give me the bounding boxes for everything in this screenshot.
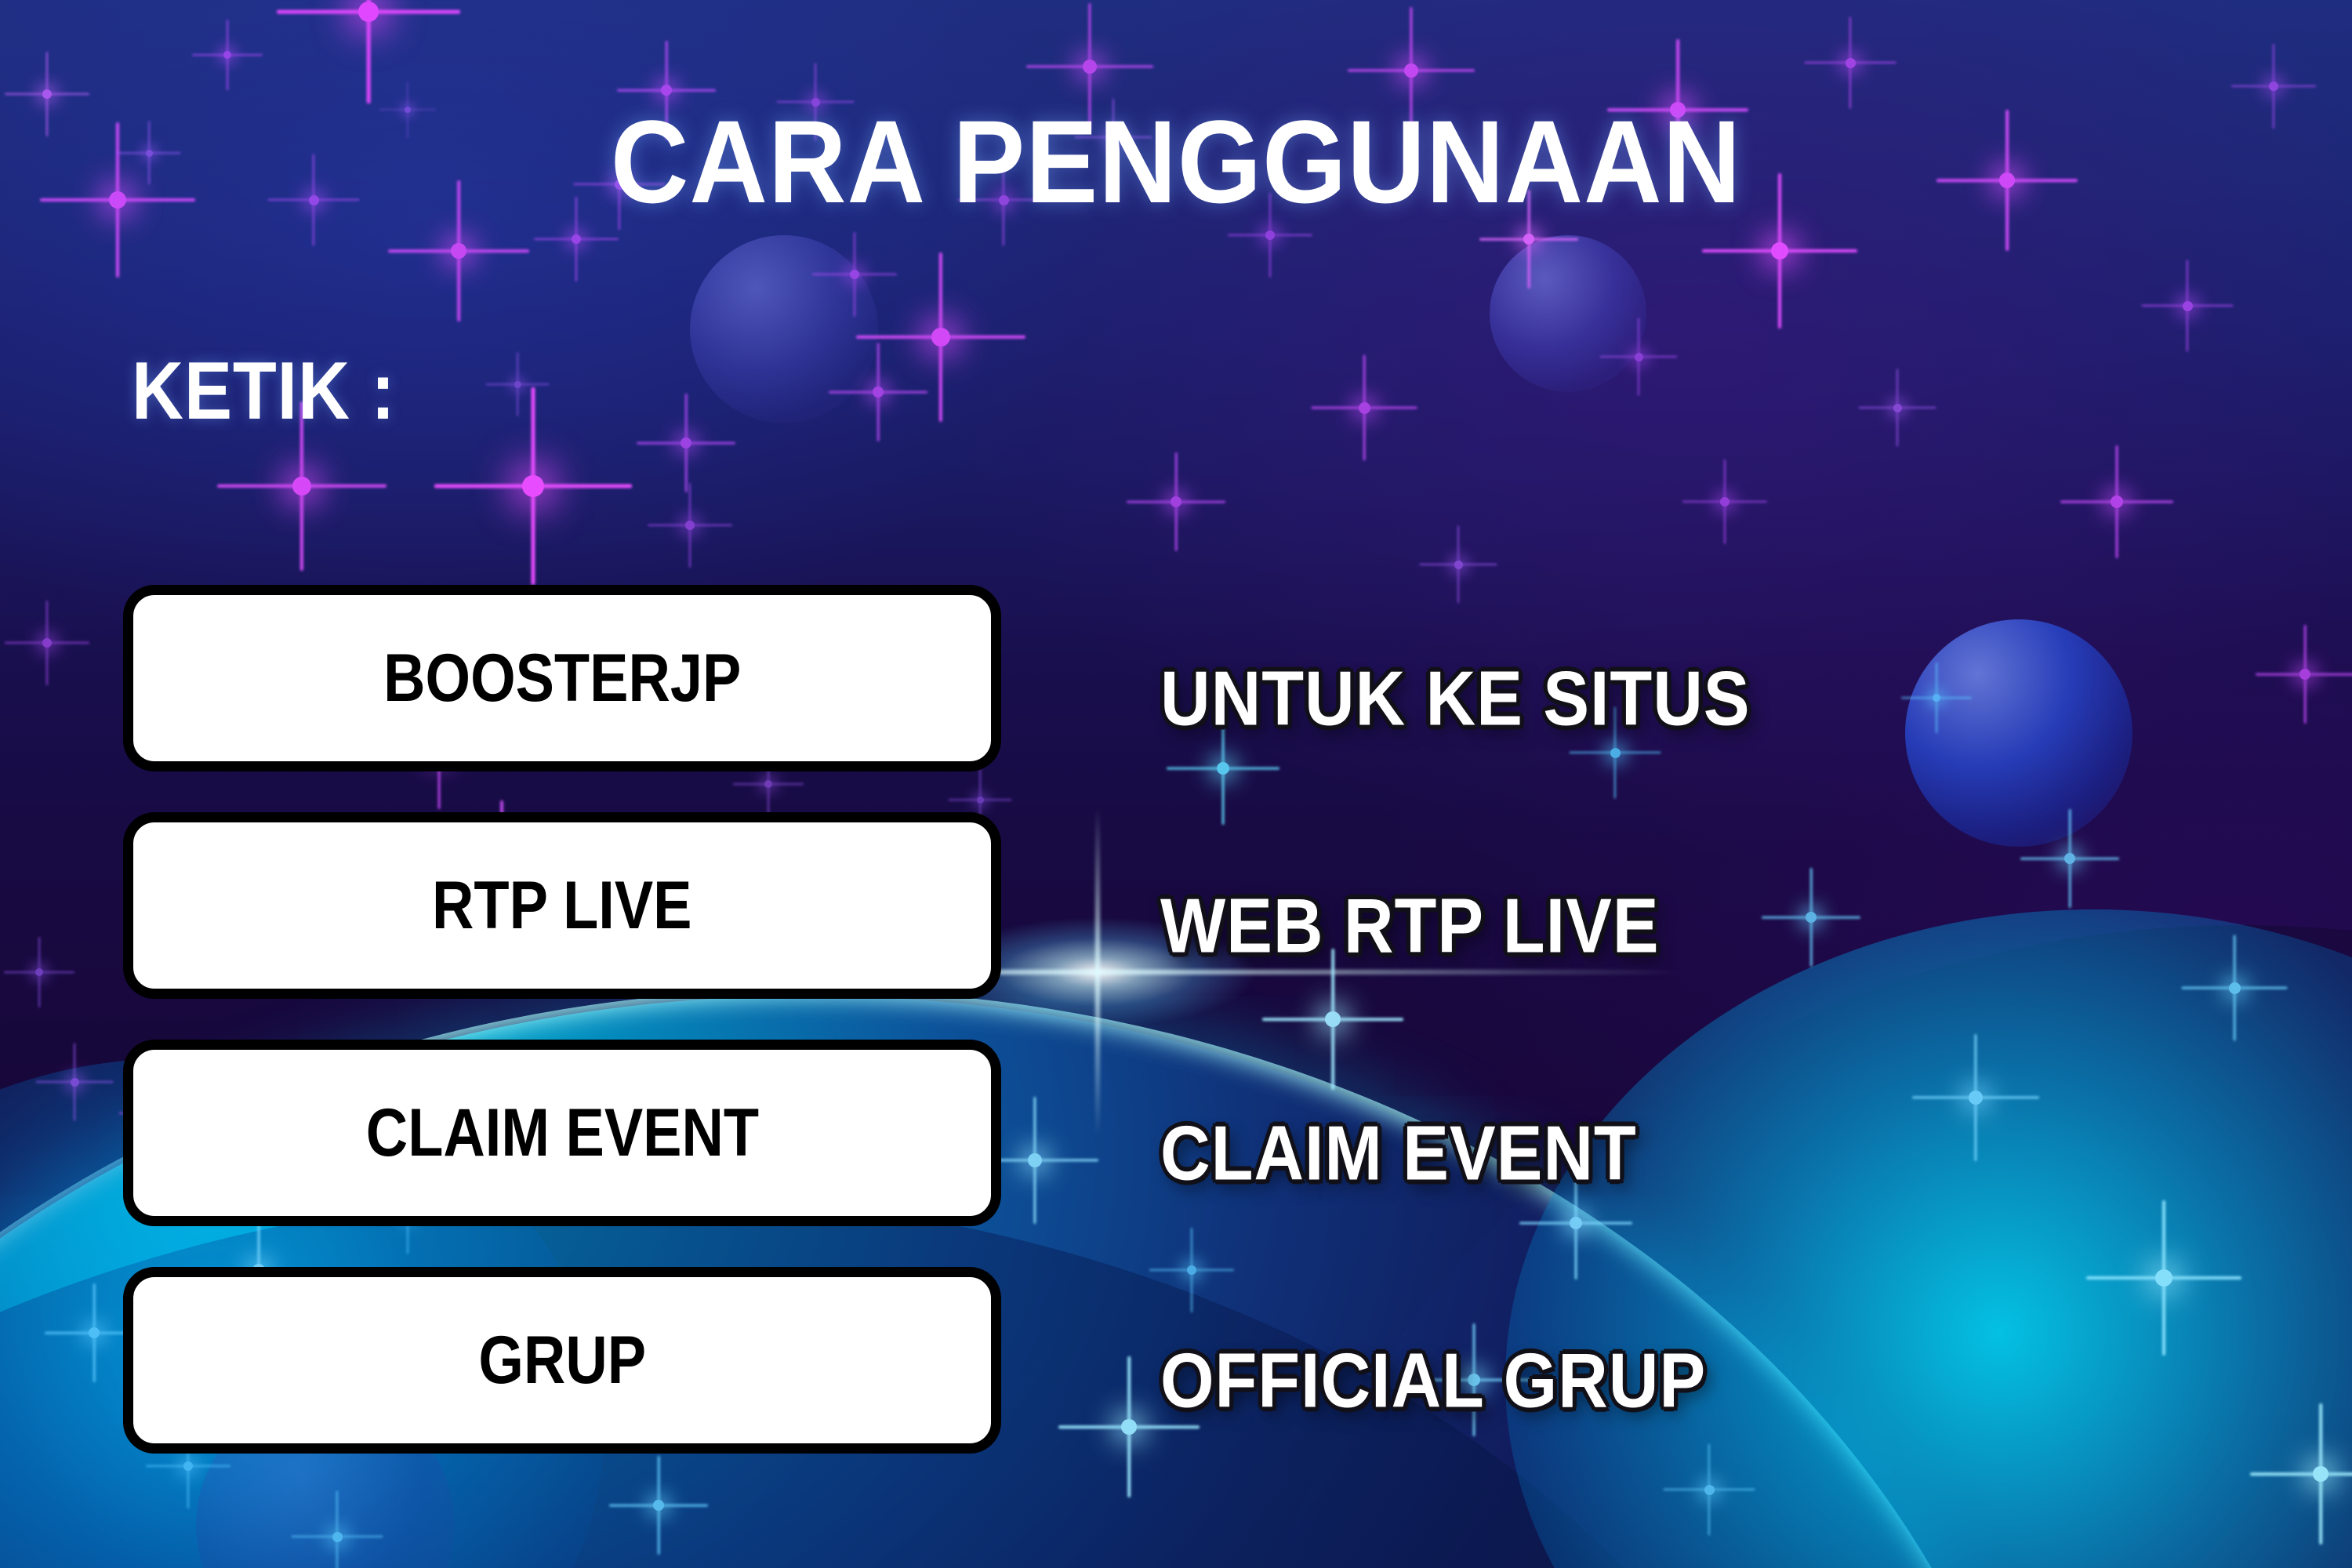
command-description: CLAIM EVENT	[1160, 1109, 1637, 1198]
command-description: WEB RTP LIVE	[1160, 882, 1659, 971]
command-row: CLAIM EVENTCLAIM EVENT	[0, 1040, 2352, 1267]
command-description: OFFICIAL GRUP	[1160, 1337, 1706, 1425]
keyword-chip-claim-event[interactable]: CLAIM EVENT	[123, 1040, 1001, 1226]
command-row: RTP LIVEWEB RTP LIVE	[0, 812, 2352, 1040]
keyword-chip-boosterjp[interactable]: BOOSTERJP	[123, 585, 1001, 771]
command-list: BOOSTERJPUNTUK KE SITUSRTP LIVEWEB RTP L…	[0, 585, 2352, 1494]
keyword-label: GRUP	[478, 1322, 646, 1399]
keyword-label: BOOSTERJP	[383, 640, 741, 717]
instruction-label: KETIK :	[132, 345, 396, 438]
keyword-label: RTP LIVE	[432, 867, 692, 945]
keyword-chip-grup[interactable]: GRUP	[123, 1267, 1001, 1454]
poster-canvas: CARA PENGGUNAAN KETIK : BOOSTERJPUNTUK K…	[0, 0, 2352, 1568]
page-title: CARA PENGGUNAAN	[94, 94, 2258, 230]
command-description: UNTUK KE SITUS	[1160, 655, 1751, 743]
keyword-chip-rtp-live[interactable]: RTP LIVE	[123, 812, 1001, 999]
command-row: GRUPOFFICIAL GRUP	[0, 1267, 2352, 1494]
command-row: BOOSTERJPUNTUK KE SITUS	[0, 585, 2352, 812]
keyword-label: CLAIM EVENT	[365, 1094, 758, 1172]
